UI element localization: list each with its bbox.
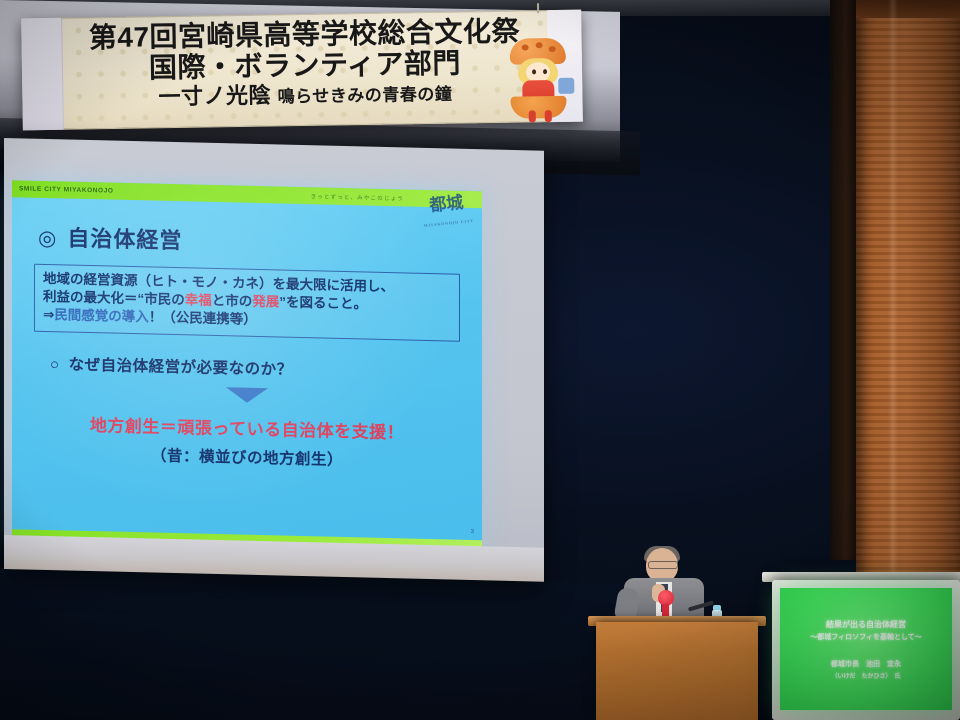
punchline-part-a: 地方創生＝ — [90, 416, 178, 437]
confidence-monitor-screen: 結果が出る自治体経営 〜都城フィロソフィを基軸として〜 都城市長 池田 宜永 （… — [780, 588, 952, 710]
definition-line-2-e: ”を図ること。 — [279, 295, 367, 312]
definition-box: 地域の経営資源（ヒト・モノ・カネ）を最大限に活用し、 利益の最大化＝“市民の幸福… — [34, 264, 460, 342]
venue-banner: 第47回宮崎県高等学校総合文化祭 国際・ボランティア部門 一寸ノ光陰 鳴らせきみ… — [21, 10, 583, 131]
stage-floor — [0, 568, 620, 720]
wood-panel-top-cap — [856, 0, 960, 18]
banner-line-3: 一寸ノ光陰 鳴らせきみの青春の鐘 — [64, 80, 546, 110]
monitor-subtitle: 〜都城フィロソフィを基軸として〜 — [810, 632, 922, 642]
slide-body: ◎自治体経営 地域の経営資源（ヒト・モノ・カネ）を最大限に活用し、 利益の最大化… — [12, 197, 482, 540]
presentation-slide: SMILE CITY MIYAKONOJO きっとずっと、みやこのじょう 都城 … — [12, 180, 482, 551]
double-circle-icon: ◎ — [38, 227, 57, 250]
definition-line-3-c: ！（公民連携等） — [149, 310, 257, 328]
confidence-monitor: 結果が出る自治体経営 〜都城フィロソフィを基軸として〜 都城市長 池田 宜永 （… — [772, 580, 960, 720]
festival-mascot-icon — [501, 34, 576, 119]
banner-line-1: 第47回宮崎県高等学校総合文化祭 — [63, 17, 545, 53]
auditorium-photo-scene: 第47回宮崎県高等学校総合文化祭 国際・ボランティア部門 一寸ノ光陰 鳴らせきみ… — [0, 0, 960, 720]
banner-line-3-main: 一寸ノ光陰 — [158, 82, 271, 109]
wood-panel-wall — [856, 0, 960, 612]
monitor-title: 結果が出る自治体経営 — [826, 619, 906, 630]
punchline-part-c: ！ — [387, 423, 405, 442]
slide-question-text: なぜ自治体経営が必要なのか？ — [69, 356, 293, 378]
slide-question: ○なぜ自治体経営が必要なのか？ — [50, 352, 466, 384]
banner-line-2: 国際・ボランティア部門 — [64, 48, 546, 84]
arrow-glyph: ⇒ — [43, 307, 54, 322]
definition-highlight-private-sense: 民間感覚の導入 — [54, 308, 149, 325]
down-triangle-icon — [226, 387, 268, 403]
circle-bullet-icon: ○ — [50, 356, 60, 373]
projection-screen: SMILE CITY MIYAKONOJO きっとずっと、みやこのじょう 都城 … — [12, 180, 482, 551]
banner-left-cap — [21, 18, 64, 131]
projection-screen-frame: SMILE CITY MIYAKONOJO きっとずっと、みやこのじょう 都城 … — [4, 138, 544, 581]
podium — [596, 622, 758, 720]
glasses-icon — [648, 561, 678, 569]
definition-line-2-c: と市の — [212, 293, 253, 309]
slide-punchline: 地方創生＝頑張っている自治体を支援！ — [28, 409, 466, 444]
slide-page-number: 3 — [471, 529, 474, 535]
definition-line-2-a: 利益の最大化＝“市民の — [43, 289, 185, 307]
wood-panel-sheen — [888, 0, 898, 600]
slide-brand-label: SMILE CITY MIYAKONOJO — [12, 185, 114, 194]
slide-subline: （昔：横並びの地方創生） — [28, 440, 466, 472]
slide-heading-text: 自治体経営 — [67, 225, 182, 253]
definition-highlight-development: 発展 — [252, 294, 279, 310]
slide-heading: ◎自治体経営 — [38, 220, 466, 262]
monitor-presenter-name: 都城市長 池田 宜永 — [831, 659, 901, 669]
punchline-part-b: 頑張っている自治体を支援 — [177, 418, 386, 442]
banner-line-3-sub: 鳴らせきみの青春の鐘 — [278, 85, 453, 107]
definition-highlight-happiness: 幸福 — [185, 292, 212, 308]
wall-column-dark — [830, 0, 856, 560]
monitor-presenter-reading: （いけだ たかひさ） 氏 — [831, 671, 900, 680]
banner-text-block: 第47回宮崎県高等学校総合文化祭 国際・ボランティア部門 一寸ノ光陰 鳴らせきみ… — [63, 12, 547, 128]
